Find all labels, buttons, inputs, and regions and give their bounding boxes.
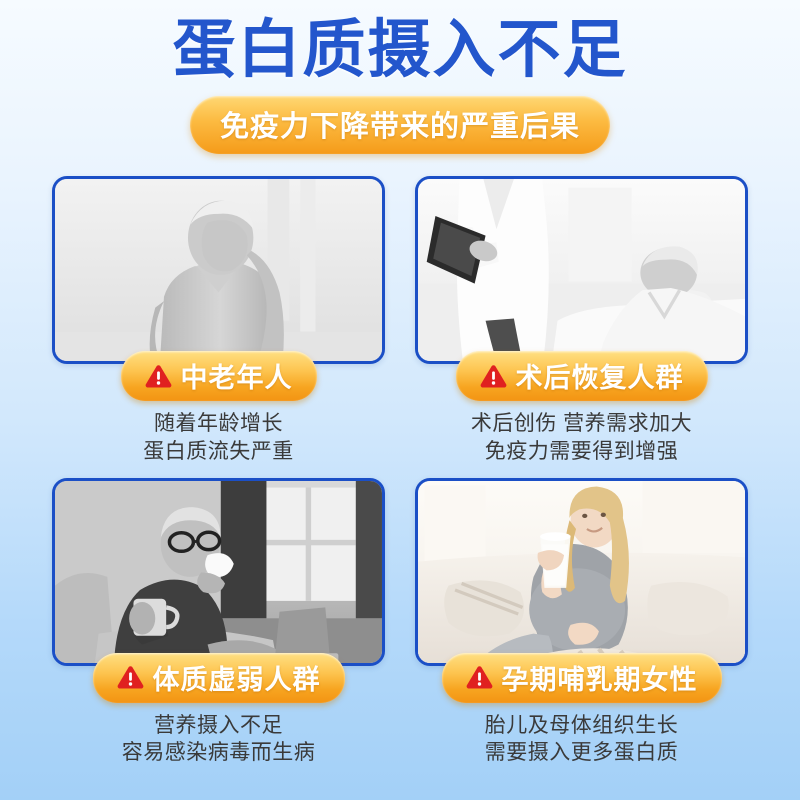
header: 蛋白质摄入不足 免疫力下降带来的严重后果 (0, 0, 800, 154)
photo-frame-post-surgery (415, 176, 748, 364)
badge-elderly: 中老年人 (121, 351, 317, 401)
badge-post-surgery: 术后恢复人群 (456, 351, 708, 401)
badge-label: 孕期哺乳期女性 (502, 658, 698, 697)
infographic-page: 蛋白质摄入不足 免疫力下降带来的严重后果 (0, 0, 800, 800)
caption-line-2: 蛋白质流失严重 (143, 438, 294, 466)
caption-pregnant-nursing: 胎儿及母体组织生长 需要摄入更多蛋白质 (485, 712, 679, 767)
caption-line-2: 需要摄入更多蛋白质 (485, 739, 679, 767)
photo-frame-weak-constitution (52, 478, 385, 666)
caption-line-2: 容易感染病毒而生病 (122, 739, 316, 767)
badge-label: 体质虚弱人群 (153, 658, 321, 697)
card-weak-constitution: 体质虚弱人群 营养摄入不足 容易感染病毒而生病 (52, 478, 385, 767)
photo-elderly-with-tissue-and-mug (55, 481, 382, 666)
card-pregnant-nursing: 孕期哺乳期女性 胎儿及母体组织生长 需要摄入更多蛋白质 (415, 478, 748, 767)
subtitle-container: 免疫力下降带来的严重后果 (0, 96, 800, 154)
warning-triangle-icon (466, 665, 493, 689)
caption-weak-constitution: 营养摄入不足 容易感染病毒而生病 (122, 712, 316, 767)
badge-weak-constitution: 体质虚弱人群 (93, 653, 345, 703)
card-elderly: 中老年人 随着年龄增长 蛋白质流失严重 (52, 176, 385, 465)
badge-pregnant-nursing: 孕期哺乳期女性 (442, 653, 722, 703)
card-post-surgery: 术后恢复人群 术后创伤 营养需求加大 免疫力需要得到增强 (415, 176, 748, 465)
warning-triangle-icon (145, 364, 172, 388)
photo-pregnant-woman-drinking-milk (418, 481, 745, 666)
cards-grid: 中老年人 随着年龄增长 蛋白质流失严重 (0, 176, 800, 767)
caption-line-1: 术后创伤 营养需求加大 (471, 410, 692, 438)
warning-triangle-icon (480, 364, 507, 388)
badge-label: 术后恢复人群 (516, 356, 684, 395)
caption-line-1: 随着年龄增长 (143, 410, 294, 438)
page-title: 蛋白质摄入不足 (0, 18, 800, 82)
caption-line-1: 胎儿及母体组织生长 (485, 712, 679, 740)
subtitle-banner: 免疫力下降带来的严重后果 (190, 96, 610, 154)
caption-line-2: 免疫力需要得到增强 (471, 438, 692, 466)
caption-line-1: 营养摄入不足 (122, 712, 316, 740)
caption-elderly: 随着年龄增长 蛋白质流失严重 (143, 410, 294, 465)
badge-label: 中老年人 (181, 356, 293, 395)
photo-frame-pregnant-nursing (415, 478, 748, 666)
photo-elderly-man-head-in-hand (55, 179, 382, 364)
caption-post-surgery: 术后创伤 营养需求加大 免疫力需要得到增强 (471, 410, 692, 465)
warning-triangle-icon (117, 665, 144, 689)
photo-frame-elderly (52, 176, 385, 364)
photo-doctor-with-tablet-and-patient (418, 179, 745, 364)
